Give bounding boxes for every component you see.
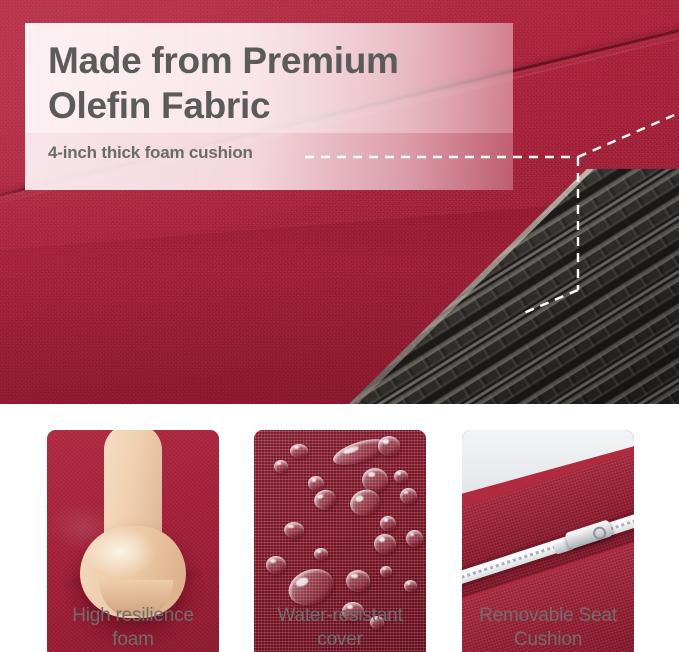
water-droplet [400, 488, 417, 504]
caption-line-2: foam [47, 628, 219, 652]
water-droplet [290, 444, 308, 458]
feature-cards-row: High resilience foam Water-resistant cov… [0, 404, 679, 652]
caption-line-1: High resilience [47, 604, 219, 628]
water-droplet [380, 516, 396, 531]
caption-line-2: cover [254, 628, 426, 652]
hero-product-photo: Made from Premium Olefin Fabric 4-inch t… [0, 0, 679, 404]
water-droplet [274, 460, 288, 473]
feature-caption-removable-seat-cushion: Removable Seat Cushion [462, 604, 634, 652]
water-droplet [308, 476, 324, 491]
feature-caption-water-resistant-cover: Water-resistant cover [254, 604, 426, 652]
hero-headline: Made from Premium Olefin Fabric [48, 38, 508, 128]
water-droplet [346, 570, 370, 592]
headline-line-2: Olefin Fabric [48, 83, 508, 128]
feature-caption-high-resilience-foam: High resilience foam [47, 604, 219, 652]
caption-line-1: Water-resistant [254, 604, 426, 628]
water-droplet [406, 530, 423, 547]
water-droplet [374, 534, 396, 554]
hero-subline: 4-inch thick foam cushion [48, 143, 253, 163]
caption-line-1: Removable Seat [462, 604, 634, 628]
product-feature-infographic: Made from Premium Olefin Fabric 4-inch t… [0, 0, 679, 652]
water-droplet [266, 556, 286, 574]
water-droplet [404, 580, 417, 592]
water-droplet [284, 522, 304, 538]
water-droplet [378, 436, 400, 456]
caption-line-2: Cushion [462, 628, 634, 652]
water-droplet [380, 566, 392, 577]
water-droplet [394, 470, 408, 483]
water-droplet [314, 548, 328, 560]
headline-line-1: Made from Premium [48, 40, 399, 81]
